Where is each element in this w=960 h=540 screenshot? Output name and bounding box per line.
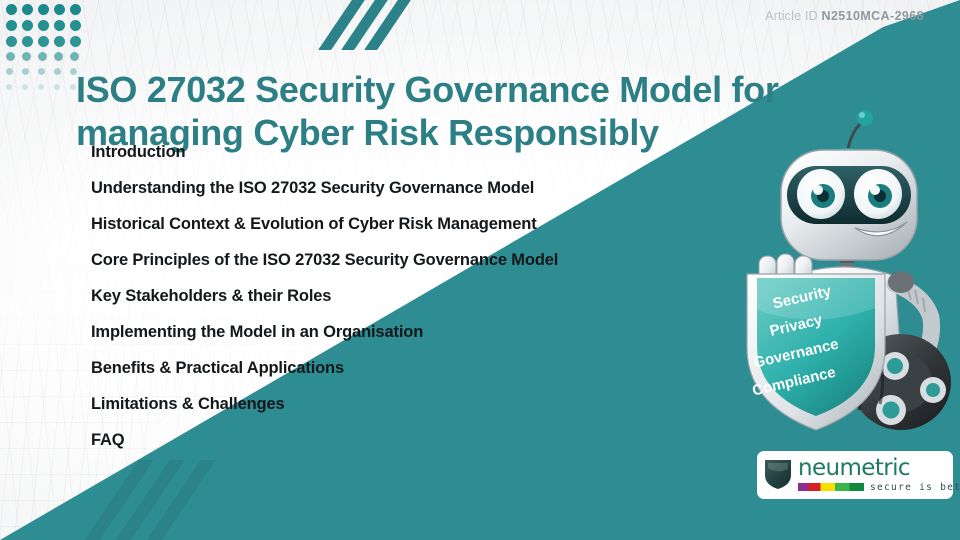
logo-text-block: neumetric secure is better	[798, 458, 960, 493]
robot-mascot-illustration: Security Privacy Governance Compliance	[735, 104, 960, 434]
presentation-slide: Article ID N2510MCA-2968 ISO 27032 Secur…	[0, 0, 960, 540]
article-id-value: N2510MCA-2968	[822, 9, 924, 23]
diagonal-stripes-bottom	[105, 460, 182, 540]
logo-color-bar	[798, 483, 864, 491]
toc-item-core-principles[interactable]: Core Principles of the ISO 27032 Securit…	[91, 242, 731, 278]
logo-wordmark: neumetric	[798, 455, 910, 481]
diagonal-stripes-top	[337, 0, 396, 50]
toc-item-faq[interactable]: FAQ	[91, 422, 731, 458]
toc-item-introduction[interactable]: Introduction	[91, 134, 731, 170]
article-id: Article ID N2510MCA-2968	[765, 9, 924, 23]
article-id-label: Article ID	[765, 9, 818, 23]
robot-svg: Security Privacy Governance Compliance	[735, 104, 960, 434]
toc-item-implementing[interactable]: Implementing the Model in an Organisatio…	[91, 314, 731, 350]
dot-grid-decoration	[6, 4, 84, 98]
logo-tagline: secure is better	[870, 482, 960, 493]
neumetric-logo[interactable]: neumetric secure is better	[757, 451, 953, 499]
robot-shoulder-right	[888, 271, 914, 293]
toc-item-understanding[interactable]: Understanding the ISO 27032 Security Gov…	[91, 170, 731, 206]
toc-item-limitations[interactable]: Limitations & Challenges	[91, 386, 731, 422]
antenna-ball	[857, 110, 873, 126]
toc-item-historical-context[interactable]: Historical Context & Evolution of Cyber …	[91, 206, 731, 242]
toc-item-key-stakeholders[interactable]: Key Stakeholders & their Roles	[91, 278, 731, 314]
logo-subrow: secure is better	[798, 482, 960, 493]
toc-item-benefits[interactable]: Benefits & Practical Applications	[91, 350, 731, 386]
shield-icon	[764, 456, 792, 495]
table-of-contents: Introduction Understanding the ISO 27032…	[91, 134, 731, 458]
